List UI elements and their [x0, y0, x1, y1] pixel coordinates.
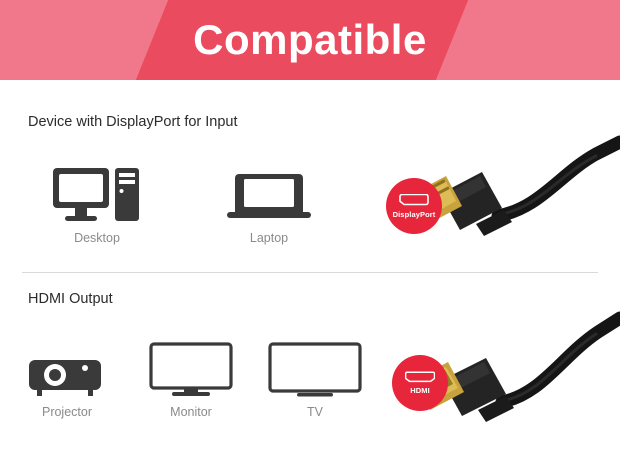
page-title: Compatible — [193, 19, 427, 61]
status-badge-displayport: DisplayPort — [386, 178, 442, 234]
hdmi-port-icon — [405, 371, 435, 383]
device-desktop: Desktop — [42, 162, 152, 245]
device-caption-monitor: Monitor — [136, 405, 246, 419]
displayport-port-icon — [399, 194, 429, 207]
status-badge-hdmi: HDMI — [392, 355, 448, 411]
device-laptop: Laptop — [214, 162, 324, 245]
badge-label-hdmi: HDMI — [410, 386, 430, 395]
desktop-icon — [42, 162, 152, 224]
monitor-icon — [136, 336, 246, 398]
device-group-output: Projector Monitor TV — [12, 336, 370, 419]
laptop-icon — [214, 162, 324, 224]
section-label-input: Device with DisplayPort for Input — [28, 114, 238, 130]
device-caption-projector: Projector — [12, 405, 122, 419]
section-divider — [22, 272, 598, 273]
tv-icon — [260, 336, 370, 398]
device-caption-desktop: Desktop — [42, 231, 152, 245]
device-monitor: Monitor — [136, 336, 246, 419]
projector-icon — [12, 336, 122, 398]
device-caption-tv: TV — [260, 405, 370, 419]
device-projector: Projector — [12, 336, 122, 419]
section-label-output: HDMI Output — [28, 291, 113, 307]
device-group-input: Desktop Laptop — [42, 162, 324, 245]
device-caption-laptop: Laptop — [214, 231, 324, 245]
badge-label-displayport: DisplayPort — [393, 210, 436, 219]
device-tv: TV — [260, 336, 370, 419]
compatibility-diagram: Compatible Device with DisplayPort for I… — [0, 0, 620, 450]
header-banner: Compatible — [0, 0, 620, 80]
